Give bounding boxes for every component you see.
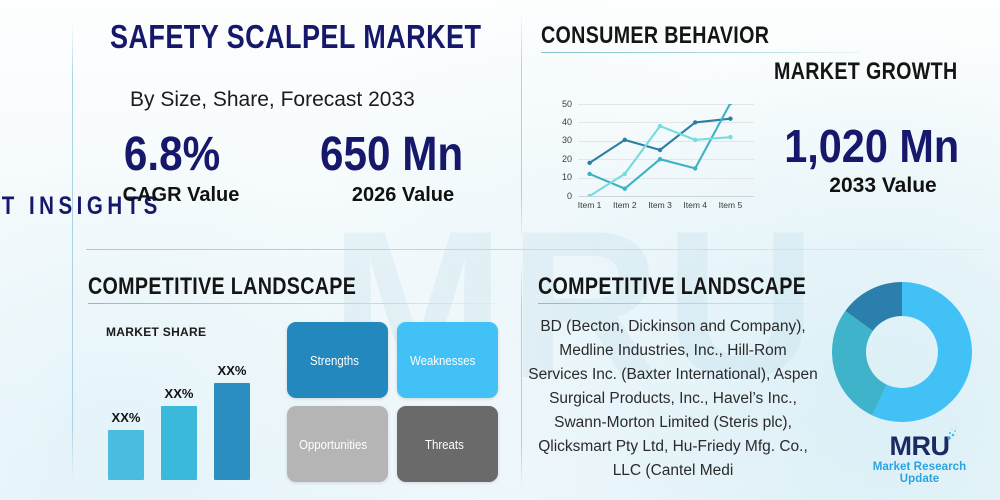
section-rule-competitive-landscape-left (88, 303, 498, 304)
market-share-donut-chart (826, 276, 978, 428)
section-header-market-growth: MARKET GROWTH (774, 58, 958, 86)
line-chart-data-point (693, 120, 697, 124)
section-header-competitive-landscape-right: COMPETITIVE LANDSCAPE (538, 273, 806, 301)
stat-cagr-value: 6.8% (106, 128, 238, 182)
line-chart-data-point (623, 172, 627, 176)
line-chart-data-point (623, 138, 627, 142)
stat-cagr: 6.8% CAGR Value (106, 128, 256, 207)
line-chart-y-tick-label: 50 (548, 100, 572, 109)
bar-chart-data-label: XX% (101, 410, 151, 425)
swot-matrix: StrengthsWeaknessesOpportunitiesThreats (287, 322, 498, 482)
market-share-title: MARKET SHARE (106, 325, 206, 339)
line-chart-series-svg (578, 104, 754, 196)
line-chart-data-point (658, 148, 662, 152)
line-chart-x-tick-label: Item 5 (713, 200, 747, 210)
line-chart-data-point (623, 186, 627, 190)
logo-mark-text: MRU (890, 431, 950, 461)
stat-2033-value: 1,020 Mn (770, 120, 973, 172)
vertical-divider-bottom (521, 262, 522, 488)
stat-2026-caption: 2026 Value (308, 184, 498, 207)
page-title: SAFETY SCALPEL MARKET (110, 18, 481, 56)
line-chart-x-tick-label: Item 2 (608, 200, 642, 210)
line-chart-y-tick-label: 20 (548, 155, 572, 164)
stat-cagr-caption: CAGR Value (106, 184, 256, 207)
swot-box-label: Threats (425, 437, 464, 452)
line-chart-series-line (590, 104, 731, 189)
donut-segment (832, 311, 887, 415)
stat-2033: 1,020 Mn 2033 Value (770, 120, 996, 198)
line-chart-x-axis (578, 196, 754, 197)
horizontal-divider (86, 249, 986, 250)
line-chart-y-tick-label: 30 (548, 136, 572, 145)
line-chart-y-tick-label: 10 (548, 173, 572, 182)
line-chart-x-tick-label: Item 3 (643, 200, 677, 210)
company-list-text: BD (Becton, Dickinson and Company), Medl… (528, 315, 818, 483)
bar-chart-bar (214, 383, 250, 480)
stat-2026-value: 650 Mn (308, 128, 475, 182)
swot-box-strengths[interactable]: Strengths (287, 322, 388, 398)
bar-chart-data-label: XX% (207, 363, 257, 378)
stat-2033-caption: 2033 Value (770, 174, 996, 198)
line-chart-data-point (728, 135, 732, 139)
infographic-canvas: MRU MARKET INSIGHTS SAFETY SCALPEL MARKE… (0, 0, 1000, 500)
swot-box-threats[interactable]: Threats (397, 406, 498, 482)
page-subtitle: By Size, Share, Forecast 2033 (130, 88, 415, 112)
bar-chart-data-label: XX% (154, 386, 204, 401)
line-chart-data-point (658, 124, 662, 128)
rail-divider (72, 22, 73, 482)
line-chart-data-point (587, 172, 591, 176)
logo-dots-icon (945, 426, 959, 442)
line-chart-x-tick-label: Item 1 (573, 200, 607, 210)
swot-box-label: Strengths (310, 353, 359, 368)
line-chart-x-tick-label: Item 4 (678, 200, 712, 210)
logo-tagline: Market Research Update (852, 461, 987, 485)
section-rule-competitive-landscape-right (538, 303, 810, 304)
swot-box-opportunities[interactable]: Opportunities (287, 406, 388, 482)
line-chart-y-tick-label: 40 (548, 118, 572, 127)
section-header-consumer-behavior: CONSUMER BEHAVIOR (541, 22, 769, 50)
line-chart-y-tick-label: 0 (548, 192, 572, 201)
line-chart-data-point (587, 161, 591, 165)
line-chart-data-point (693, 138, 697, 142)
stat-2026: 650 Mn 2026 Value (308, 128, 498, 207)
swot-box-weaknesses[interactable]: Weaknesses (397, 322, 498, 398)
section-rule-consumer-behavior (541, 52, 861, 53)
logo-mark: MRU (890, 432, 950, 460)
swot-box-label: Opportunities (299, 437, 367, 452)
mru-logo: MRU Market Research Update (852, 432, 987, 485)
line-chart-data-point (658, 157, 662, 161)
bar-chart-bar (161, 406, 197, 480)
line-chart-data-point (693, 166, 697, 170)
section-header-competitive-landscape-left: COMPETITIVE LANDSCAPE (88, 273, 356, 301)
line-chart-data-point (728, 117, 732, 121)
market-share-bar-chart: MARKET SHARE XX%XX%XX% (100, 325, 275, 480)
consumer-behavior-line-chart: 01020304050 Item 1Item 2Item 3Item 4Item… (548, 100, 763, 218)
bar-chart-bar (108, 430, 144, 480)
swot-box-label: Weaknesses (410, 353, 475, 368)
vertical-divider-top (521, 10, 522, 242)
